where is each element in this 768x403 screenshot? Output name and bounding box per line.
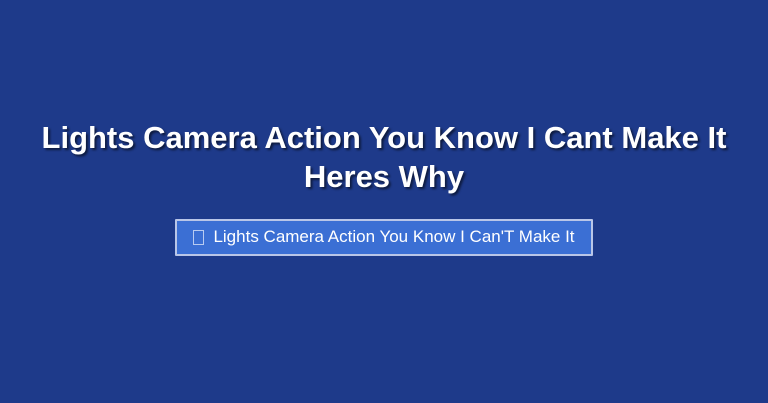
page-title: Lights Camera Action You Know I Cant Mak… <box>39 118 729 196</box>
cta-button-label: Lights Camera Action You Know I Can'T Ma… <box>213 227 574 247</box>
missing-glyph-box-icon <box>193 230 204 245</box>
cta-button[interactable]: Lights Camera Action You Know I Can'T Ma… <box>175 219 592 256</box>
page-root: Lights Camera Action You Know I Cant Mak… <box>0 0 768 403</box>
cta-container: Lights Camera Action You Know I Can'T Ma… <box>34 219 734 256</box>
hero-section: Lights Camera Action You Know I Cant Mak… <box>34 118 734 256</box>
